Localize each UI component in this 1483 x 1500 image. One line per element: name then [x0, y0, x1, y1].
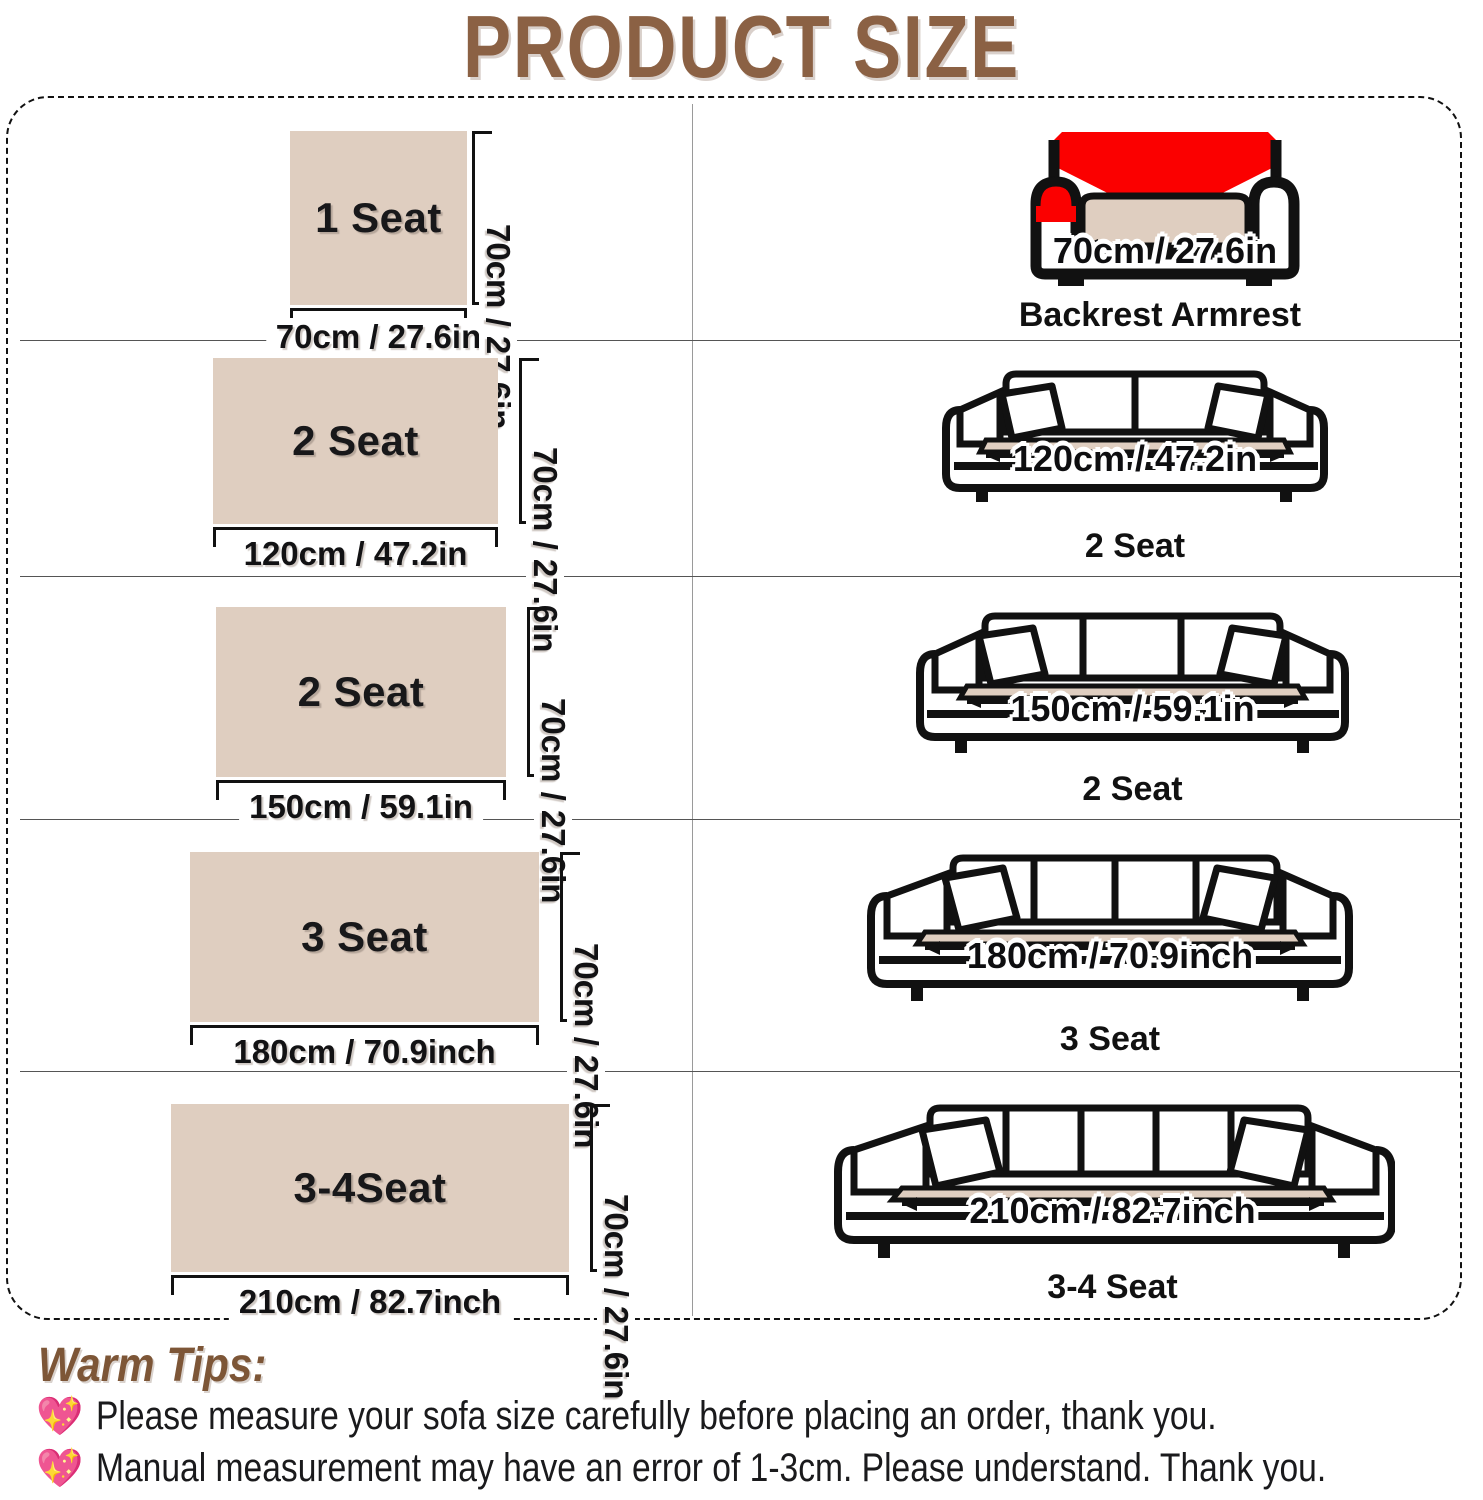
row-divider-4 — [20, 1071, 1460, 1072]
warm-tip-item-1: 💖 Please measure your sofa size carefull… — [36, 1394, 1430, 1439]
sofa-dimension: 180cm / 70.9inch — [855, 935, 1365, 977]
illustration-sofa-2-seat-large — [905, 608, 1360, 758]
size-swatch: 3 Seat — [190, 852, 539, 1022]
sofa-icon — [830, 1100, 1395, 1260]
illustration-caption: 2 Seat — [930, 527, 1340, 566]
row-divider-3 — [20, 819, 1460, 820]
sofa-icon — [930, 366, 1340, 506]
sofa-dimension: 120cm / 47.2in — [930, 438, 1340, 480]
width-bracket: 150cm / 59.1in — [216, 780, 506, 802]
sofa-icon — [855, 850, 1365, 1005]
sparkling-heart-icon: 💖 — [36, 1450, 83, 1488]
sofa-dimension: 210cm / 82.7inch — [830, 1190, 1395, 1232]
illustration-sofa-3-seat — [855, 850, 1365, 1005]
warm-tip-text: Please measure your sofa size carefully … — [96, 1394, 1217, 1439]
warm-tips-heading: Warm Tips: — [38, 1338, 266, 1393]
size-swatch: 3-4Seat — [171, 1104, 569, 1272]
size-swatch: 2 Seat — [213, 358, 498, 524]
width-bracket: 210cm / 82.7inch — [171, 1275, 569, 1297]
width-label: 210cm / 82.7inch — [229, 1283, 511, 1321]
height-bracket: 70cm / 27.6in — [519, 358, 541, 524]
dimension-label: 210cm / 82.7inch — [969, 1190, 1255, 1231]
size-swatch: 1 Seat — [290, 131, 467, 305]
illustration-sofa-2-seat — [930, 366, 1340, 506]
warm-tip-item-2: 💖 Manual measurement may have an error o… — [36, 1446, 1483, 1491]
height-label: 70cm / 27.6in — [597, 1188, 635, 1405]
column-divider — [692, 104, 693, 1316]
dimension-label: 180cm / 70.9inch — [967, 935, 1253, 976]
swatch-label: 2 Seat — [298, 668, 425, 716]
swatch-label: 1 Seat — [315, 194, 442, 242]
height-bracket: 70cm / 27.6in — [472, 131, 494, 305]
width-label: 180cm / 70.9inch — [223, 1033, 505, 1071]
illustration-caption: 2 Seat — [905, 770, 1360, 809]
page-title: PRODUCT SIZE — [133, 0, 1349, 98]
width-label: 120cm / 47.2in — [234, 535, 478, 573]
swatch-label: 3-4Seat — [294, 1164, 447, 1212]
width-bracket: 180cm / 70.9inch — [190, 1025, 539, 1047]
sofa-dimension: 150cm / 59.1in — [905, 688, 1360, 730]
swatch-label: 2 Seat — [292, 417, 419, 465]
sparkling-heart-icon: 💖 — [36, 1398, 83, 1436]
sofa-icon — [905, 608, 1360, 758]
illustration-caption: 3 Seat — [855, 1020, 1365, 1059]
width-label: 150cm / 59.1in — [239, 788, 483, 826]
dimension-label: 70cm / 27.6in — [1053, 230, 1277, 271]
width-label: 70cm / 27.6in — [266, 318, 491, 356]
warm-tip-text: Manual measurement may have an error of … — [96, 1446, 1326, 1491]
row-divider-2 — [20, 576, 1460, 577]
dimension-label: 150cm / 59.1in — [1010, 688, 1254, 729]
row-divider-1 — [20, 340, 1460, 341]
swatch-label: 3 Seat — [301, 913, 428, 961]
illustration-sofa-3-4-seat — [830, 1100, 1395, 1260]
illustration-caption: Backrest Armrest — [1010, 296, 1310, 335]
height-bracket: 70cm / 27.6in — [590, 1104, 612, 1272]
dimension-label: 120cm / 47.2in — [1013, 438, 1257, 479]
width-bracket: 120cm / 47.2in — [213, 527, 498, 549]
armchair-dimension: 70cm / 27.6in — [1020, 230, 1310, 272]
size-swatch: 2 Seat — [216, 607, 506, 777]
height-bracket: 70cm / 27.6in — [527, 607, 549, 777]
width-bracket: 70cm / 27.6in — [290, 308, 467, 330]
illustration-caption: 3-4 Seat — [830, 1268, 1395, 1307]
height-bracket: 70cm / 27.6in — [560, 852, 582, 1022]
